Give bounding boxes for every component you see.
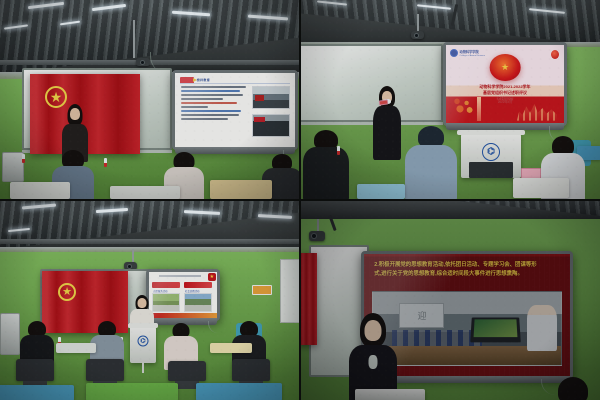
city-skyline-decoration: [517, 100, 557, 120]
chair: [86, 359, 124, 381]
college-logo-mark-icon: [450, 49, 458, 57]
smartboard-screen: 榜样教育: [175, 73, 295, 147]
whiteboard-tray: [301, 122, 443, 125]
chair: [232, 359, 270, 381]
collage-panel-bottom-right: 2.积极开展党的思想教育活动,依托团日活动、专题学习会、团课等形 式,进行关于党…: [301, 201, 600, 400]
photo-projection-screen: [399, 303, 444, 328]
wall-sign: [252, 285, 272, 295]
college-name-cn: 动物科学学院: [460, 49, 485, 54]
ceiling: [301, 201, 600, 219]
side-cabinet: [2, 152, 24, 182]
podium-top: [457, 130, 524, 135]
ceiling-shading: [0, 0, 299, 78]
youth-league-emblem-icon: ★: [490, 54, 521, 81]
ceiling: [0, 0, 299, 78]
slide-photo: [372, 291, 562, 367]
audience-member: [303, 130, 349, 199]
slide-body: 2.积极开展党的思想教育活动,依托团日活动、专题学习会、团课等形 式,进行关于党…: [374, 261, 559, 278]
slide-photo: [184, 293, 211, 311]
flag-corner-icon: [208, 273, 215, 280]
mount-pole: [132, 249, 134, 263]
side-cabinet: [0, 313, 20, 355]
camera-lens-icon: [414, 33, 419, 38]
slide-photo: [252, 114, 290, 136]
whiteboard: [301, 44, 443, 122]
flag-star-icon: ★: [62, 287, 72, 298]
collage-panel-top-right: 动物科学学院 College of Animal Science ★ 动物科学学…: [301, 0, 600, 199]
camera-lens-icon: [311, 233, 317, 239]
table: [86, 383, 178, 400]
podium: ⌬: [461, 134, 521, 178]
audience-member: [405, 126, 457, 199]
water-bottle: [337, 146, 340, 155]
slide-header-right: [184, 282, 211, 288]
smartboard-screen: 动物科学学院 College of Animal Science ★ 动物科学学…: [446, 45, 564, 123]
collage-panel-top-left: ★ 榜样教育: [0, 0, 299, 199]
smartboard-display: 志愿服务活动 社会实践活动: [146, 269, 220, 321]
mount-pole: [317, 219, 319, 231]
podium-stem: [142, 362, 144, 373]
ceiling-shading: [0, 201, 299, 253]
slide-heading-rule: [159, 275, 201, 277]
slide-title: 榜样教育: [197, 78, 210, 82]
slide-divider: [180, 83, 290, 84]
flag-emblem: ★: [58, 283, 76, 301]
audience-member: [551, 377, 595, 400]
desk: [357, 184, 405, 199]
slide-title-card: 动物科学学院 College of Animal Science ★ 动物科学学…: [446, 45, 564, 123]
slide-document: 榜样教育: [175, 73, 295, 147]
desk: [210, 343, 252, 353]
door: [280, 259, 299, 323]
podium: ⌬: [130, 327, 156, 363]
collage-panel-bottom-left: ★ 志愿服务活动 社会实践活动: [0, 201, 299, 400]
slide-date: 2022年6月: [498, 100, 512, 104]
photo-person: [527, 305, 557, 351]
lantern-decoration: [551, 50, 559, 59]
necktie: [369, 355, 378, 369]
smartboard-display: 动物科学学院 College of Animal Science ★ 动物科学学…: [443, 42, 567, 126]
table: [196, 383, 282, 400]
flag-star-icon: ★: [50, 90, 63, 104]
slide-header-left: [152, 282, 179, 288]
chair: [16, 359, 54, 381]
emblem-star-icon: ★: [501, 63, 509, 72]
photo-laptop: [470, 317, 520, 342]
wall-trim: [0, 247, 299, 252]
slide-photo: [152, 293, 179, 311]
podium-panel: [469, 162, 512, 178]
speaker: [373, 86, 401, 160]
desk: [513, 178, 569, 198]
camera-lens-icon: [140, 60, 145, 65]
smartboard-display: 榜样教育: [172, 70, 298, 150]
smartboard-screen: 志愿服务活动 社会实践活动: [149, 272, 217, 318]
desk: [10, 182, 70, 199]
tower-silhouette: [477, 97, 482, 120]
desk: [210, 180, 272, 199]
slide-photo: [252, 86, 290, 108]
mount-pole: [417, 14, 419, 32]
college-logo: 动物科学学院 College of Animal Science: [450, 49, 485, 57]
podium-top: [128, 323, 157, 328]
ceiling-shading: [301, 201, 600, 219]
slide-two-column: 志愿服务活动 社会实践活动: [149, 272, 217, 318]
water-bottle: [22, 154, 25, 163]
podium: [355, 389, 425, 400]
ceiling: [0, 201, 299, 253]
desk: [110, 186, 180, 199]
water-bottle: [104, 158, 107, 167]
desk: [56, 343, 96, 353]
slide-text-line-1: 2.积极开展党的思想教育活动,依托团日活动、专题学习会、团课等形: [374, 261, 559, 270]
photo-collage: ★ 榜样教育: [0, 0, 600, 400]
college-name-en: College of Animal Science: [460, 55, 485, 57]
slide-text-line-2: 式,进行关于党的思想教育,综合适时间段大事件进行思想熏陶。: [374, 270, 559, 279]
university-logo-icon: ⌬: [138, 336, 149, 347]
speaker: [349, 313, 397, 400]
youth-league-flag-edge: [301, 253, 317, 345]
chair: [168, 361, 206, 381]
display-base: [446, 123, 564, 130]
table: [0, 385, 74, 400]
mount-pole: [133, 20, 135, 58]
university-logo-icon: ⌬: [482, 143, 500, 161]
slide-body-text: [181, 86, 248, 122]
